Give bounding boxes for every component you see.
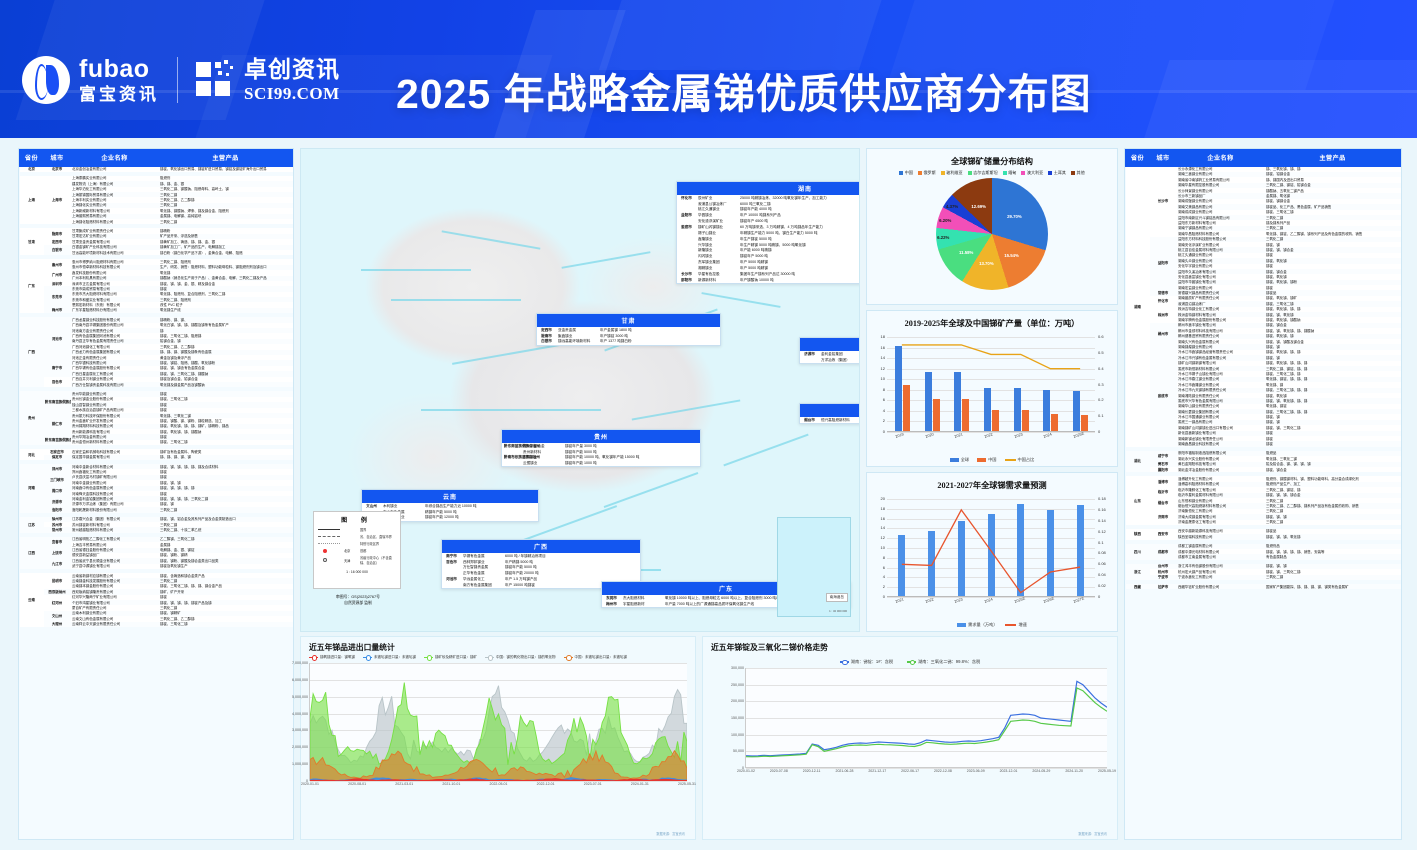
pie-legend-item: 土耳其	[1048, 170, 1066, 176]
page-title: 2025 年战略金属锑优质供应商分布图	[396, 60, 1092, 120]
legend-item: 中国：锑的氧化物出口量：锑的氧化物	[485, 655, 556, 660]
cell-city: 郴州市	[1150, 323, 1177, 345]
callout-city: 黔东南苗族侗族自治州	[502, 443, 521, 449]
fubao-brand-en: fubao	[79, 57, 159, 82]
legend-item: 中国	[977, 457, 996, 463]
cell-products: 国家矿产集团勘探、锑、锑、锑、锑、锑类有色金属矿	[1265, 584, 1401, 589]
legend-item: 湖南：三氧化二锑：99.8%：含税	[907, 659, 980, 665]
chart-production-plot: 02468101214161800.10.20.30.40.50.6201920…	[867, 331, 1117, 464]
pie-legend-item: 俄罗斯	[918, 170, 936, 176]
x-tick-label: 2020	[925, 432, 934, 438]
legend-label: 澳大利亚	[1027, 170, 1043, 176]
callout-company: 新源新材料	[696, 277, 738, 283]
cell-city: 大理州	[44, 622, 71, 627]
cell-province: 广东	[20, 259, 44, 313]
china-distribution-map: 湖南怀化市辰州矿业25000 吨精锑冶炼、32000 吨氧化锑年生产、加工能力溆…	[300, 148, 860, 632]
cell-city: 周口市	[44, 486, 71, 497]
legend-label: 俄罗斯	[923, 170, 935, 176]
y2-tick-label: 0.06	[1098, 561, 1106, 566]
legend-swatch-icon	[1003, 171, 1007, 175]
callout-title: 湖南	[677, 182, 860, 195]
callout-company: 万洋冶炼（集团）	[819, 357, 860, 363]
cell-city: 广州市	[44, 270, 71, 281]
callout-title: 山东	[800, 404, 860, 417]
cell-province: 贵州	[20, 391, 44, 445]
y-tick-label: 6	[869, 565, 885, 570]
legend-label: 未锻轧锑进口量：未锻轧锑	[374, 655, 416, 660]
legend-symbol-reddot	[318, 549, 344, 553]
y-tick-label: 100,000	[731, 733, 746, 737]
pie-legend-item: 中国	[899, 170, 913, 176]
legend-label: 中国占比	[1018, 457, 1035, 463]
callout-company: 南方有色金属集团	[461, 582, 503, 588]
y-tick-label: 12	[869, 535, 885, 540]
y-tick-label: 0	[869, 594, 885, 599]
callout-city: 白银市	[537, 339, 556, 345]
col-city: 城市	[1150, 150, 1177, 167]
cell-province: 江西	[20, 537, 44, 569]
legend-swatch-icon	[918, 171, 922, 175]
cell-province: 湖北	[1126, 451, 1150, 473]
chart-import-export: 近五年锑品进出口量统计 锑氧锑进口量：锑氧锑未锻轧锑进口量：未锻轧锑锑矿砂及精矿…	[300, 636, 696, 840]
map-river	[391, 299, 521, 301]
pie-slice-label: 13.70%	[979, 261, 994, 266]
cell-city: 济源市	[44, 496, 71, 507]
cell-city: 铜仁市	[44, 413, 71, 435]
cell-province: 西藏	[1126, 584, 1150, 589]
callout-company: 宇星阻燃新材	[621, 601, 663, 607]
sci99-brand-cn: 卓创资讯	[244, 58, 340, 81]
legend-label: 需求量（万吨）	[968, 622, 997, 628]
cell-company: 云南祥云中天锑业有限责任公司	[71, 622, 159, 627]
supplier-table-left-grid: 省份 城市 企业名称 主营产品 北京北京市北京金创冶金有限公司锑锭、氧化锑出口贸…	[19, 149, 293, 627]
y-tick-label: 0	[869, 429, 885, 434]
legend-desc: 省、自治区、直辖市界	[360, 534, 392, 539]
callout-row: 烟台市恒兴高阻燃新材料20 吨高阻燃年产能	[800, 417, 860, 423]
y2-tick-label: 0.2	[1098, 397, 1104, 402]
cell-province: 甘肃	[20, 228, 44, 255]
legend-swatch-icon	[1071, 171, 1075, 175]
supplier-table-right: 省份 城市 企业名称 主营产品 湖南长沙市长沙永源化工有限公司锑、三氧化锑、锑、…	[1124, 148, 1402, 840]
pie-legend-item: 吉尔吉斯斯坦	[968, 170, 998, 176]
y-tick-label: 10	[869, 545, 885, 550]
plot-area	[887, 499, 1095, 597]
x-tick-label: 2022-06-17	[901, 769, 919, 773]
y-tick-label: 18	[869, 506, 885, 511]
legend-row: 天津省级行政中心（不含直辖、自治区）	[314, 554, 400, 566]
map-legend: 图 例 国界省、自治区、直辖市界特别行政区界北京首都天津省级行政中心（不含直辖、…	[313, 511, 401, 589]
legend-symbol-dot	[318, 543, 344, 544]
legend-symbol-dash	[318, 536, 344, 537]
callout-city	[442, 582, 461, 588]
legend-item: 全球	[950, 457, 969, 463]
cell-city: 怀化市	[1150, 296, 1177, 307]
chart-plot-area: 050,000100,000150,000200,000250,000300,0…	[745, 668, 1107, 768]
legend-key: 天津	[344, 558, 360, 563]
inset-scale: 1 : 32 000 000	[829, 609, 847, 613]
cell-province: 江苏	[20, 517, 44, 533]
y-tick-label: 3,000,000	[292, 728, 310, 732]
cell-city: 三门峡市	[44, 475, 71, 486]
cell-city: 宜春市	[44, 537, 71, 548]
cell-city: 陇南市	[44, 228, 71, 239]
y-tick-label: 50,000	[733, 749, 746, 753]
chart-legend: 需求量（万吨）增速	[867, 622, 1117, 628]
legend-label: 中国	[988, 457, 996, 463]
cell-province: 湖南	[1126, 166, 1150, 447]
legend-label: 增速	[1018, 622, 1026, 628]
cell-city: 上饶市	[44, 548, 71, 559]
legend-label: 中国：未锻轧锑出口量：未锻轧锑	[575, 655, 628, 660]
legend-label: 中国：锑的氧化物出口量：锑的氧化物	[496, 655, 556, 660]
y-tick-label: 150,000	[731, 716, 746, 720]
supplier-table-right-grid: 省份 城市 企业名称 主营产品 湖南长沙市长沙永源化工有限公司锑、三氧化锑、锑、…	[1125, 149, 1401, 589]
cell-city: 济南市	[1150, 509, 1177, 525]
map-scale: 1 : 16 000 000	[314, 570, 400, 574]
cell-city: 郑州市	[44, 464, 71, 475]
callout-city: 梅州市	[602, 601, 621, 607]
cell-city: 黔东南苗族侗族自治州	[44, 391, 71, 413]
legend-marker-icon	[840, 661, 849, 662]
cell-city: 红河州	[44, 595, 71, 611]
x-tick-label: 2020-07-08	[770, 769, 788, 773]
chart-title: 近五年锑品进出口量统计	[301, 637, 695, 655]
y-tick-label: 16	[869, 516, 885, 521]
map-callout-湖南[interactable]: 湖南怀化市辰州矿业25000 吨精锑冶炼、32000 吨氧化锑年生产、加工能力溆…	[676, 181, 860, 284]
y-tick-label: 16	[869, 345, 885, 350]
y2-tick-label: 0.1	[1098, 413, 1104, 418]
cell-province: 广西	[20, 317, 44, 387]
y2-tick-label: 0.6	[1098, 334, 1104, 339]
callout-capacity: 锑锭年产能 12000 吨	[423, 515, 538, 521]
map-river	[361, 269, 471, 271]
x-tick-label: 2023	[1014, 432, 1023, 438]
y-tick-label: 4,000,000	[292, 712, 310, 716]
legend-marker-icon	[309, 657, 318, 658]
south-china-sea-inset: 南海诸岛 1 : 32 000 000	[777, 517, 851, 617]
supplier-table-left-body: 北京北京市北京金创冶金有限公司锑锭、氧化锑出口贸易、锑锭矿进口贸易、锑锭及锑锭矿…	[20, 166, 293, 627]
cell-city: 东莞市	[44, 286, 71, 308]
col-company: 企业名称	[71, 150, 159, 167]
cell-city: 百色市	[44, 377, 71, 388]
cell-city: 长沙市	[1150, 166, 1177, 237]
source-note: 数据来源：富宝资讯	[656, 831, 685, 836]
chart-title: 2019-2025年全球及中国锑矿产量（单位：万吨）	[867, 311, 1117, 331]
y2-tick-label: 0.12	[1098, 529, 1106, 534]
legend-label: 湖南：三氧化二锑：99.8%：含税	[918, 659, 980, 665]
legend-item: 锑氧锑进口量：锑氧锑	[309, 655, 355, 660]
legend-marker-icon	[564, 657, 573, 658]
cell-province: 云南	[20, 573, 44, 627]
y-tick-label: 4	[869, 408, 885, 413]
sci99-wordmark: 卓创资讯 SCI99.COM	[244, 58, 340, 102]
x-tick-label: 2021	[954, 432, 963, 438]
chart-demand-plot: 0246810121416182000.020.040.060.080.10.1…	[867, 493, 1117, 629]
y-tick-label: 12	[869, 366, 885, 371]
x-tick-label: 2019	[895, 432, 904, 438]
y2-tick-label: 0	[1098, 594, 1100, 599]
callout-title: 河南	[800, 338, 860, 351]
cell-city: 惠州市	[44, 259, 71, 270]
y2-tick-label: 0.5	[1098, 350, 1104, 355]
legend-item: 中国：未锻轧锑出口量：未锻轧锑	[564, 655, 628, 660]
y2-tick-label: 0.18	[1098, 496, 1106, 501]
pie-slice-label: 15.54%	[1004, 253, 1019, 258]
legend-symbol-line	[318, 529, 344, 530]
legend-item: 中国占比	[1005, 457, 1035, 463]
legend-swatch-icon	[957, 623, 966, 627]
map-callout-山东[interactable]: 山东烟台市恒兴高阻燃新材料20 吨高阻燃年产能	[799, 403, 860, 424]
legend-row: 省、自治区、直辖市界	[314, 533, 400, 540]
supplier-table-left: 省份 城市 企业名称 主营产品 北京北京市北京金创冶金有限公司锑锭、氧化锑出口贸…	[18, 148, 294, 840]
cell-city: 淄博市	[1150, 476, 1177, 487]
gridline	[746, 768, 1107, 769]
x-tick-label: 2020-01-02	[737, 769, 755, 773]
map-legend-title: 图 例	[314, 512, 400, 526]
callout-title: 云南	[362, 490, 538, 503]
y2-tick-label: 0.3	[1098, 382, 1104, 387]
x-tick-label: 2020-01-01	[301, 782, 319, 786]
x-tick-label: 2021-06-28	[836, 769, 854, 773]
callout-city: 黔南布依族苗族自治州	[502, 455, 521, 461]
callout-capacity: 年产 1377 吨锑白粉	[598, 339, 720, 345]
logo-divider	[177, 57, 178, 103]
cell-city: 河池市	[44, 317, 71, 360]
y2-tick-label: 0.04	[1098, 572, 1106, 577]
pie-legend-item: 澳大利亚	[1021, 170, 1043, 176]
y-tick-label: 2	[869, 418, 885, 423]
y-tick-label: 2,000,000	[292, 745, 310, 749]
y-tick-label: 250,000	[731, 683, 746, 687]
map-callout-甘肃[interactable]: 甘肃定西市亚金贵金属年产金属锑 1800 吨陇南市聚鑫锑业年产锑锭 3000 吨…	[536, 313, 721, 346]
pie-slice-label: 6.22%	[937, 235, 949, 240]
y-tick-label: 6	[869, 397, 885, 402]
map-callout-贵州[interactable]: 贵州黔东南苗族侗族自治州贵州华星冶金锑锭年产量 3000 吨贵州新材料锑锭年产能…	[501, 429, 701, 467]
legend-item: 锑矿砂及精矿进口量：锑矿	[424, 655, 477, 660]
col-city: 城市	[44, 150, 71, 167]
callout-row: 万洋冶炼（集团）锑年产能 5000 吨	[800, 357, 860, 363]
callout-title: 贵州	[502, 430, 700, 443]
x-tick-label: 2021-03-01	[395, 782, 413, 786]
y-tick-label: 10	[869, 376, 885, 381]
chart-production: 2019-2025年全球及中国锑矿产量（单位：万吨） 0246810121416…	[866, 310, 1118, 467]
cell-province: 陕西	[1126, 529, 1150, 540]
pie-legend-item: 玻利维亚	[941, 170, 963, 176]
x-tick-label: 2024	[1043, 432, 1052, 438]
callout-city: 邵阳市	[677, 277, 696, 283]
header-decoration	[1131, 60, 1417, 138]
chart-legend: 全球中国中国占比	[867, 457, 1117, 463]
plot-area	[887, 337, 1095, 432]
y2-tick-label: 0	[1098, 429, 1100, 434]
legend-swatch-icon	[899, 171, 903, 175]
legend-swatch-icon	[1048, 171, 1052, 175]
pie-legend-item: 其他	[1071, 170, 1085, 176]
legend-label: 吉尔吉斯斯坦	[973, 170, 998, 176]
pie-graphic: 29.70%15.54%13.70%11.58%6.22%6.20%4.37%1…	[936, 178, 1048, 290]
logo-area: fubao 富宝资讯 卓创资讯 SCI99.COM	[22, 50, 340, 110]
cell-city: 益阳市	[1150, 237, 1177, 291]
callout-row: 白银市锑远高能环境新材料年产 1377 吨锑白粉	[537, 339, 720, 345]
callout-row: 邵阳市新源新材料年产锑酸钠 10000 吨	[677, 277, 860, 283]
legend-marker-icon	[363, 657, 372, 658]
pie-legend-item: 缅甸	[1003, 170, 1017, 176]
callout-row: 云鹭锑业锑锭年产能 1000 吨	[502, 461, 700, 467]
poster-header: fubao 富宝资讯 卓创资讯 SCI99.COM 2025 年战略金属锑优质供…	[0, 0, 1417, 138]
legend-swatch-icon	[968, 171, 972, 175]
col-company: 企业名称	[1177, 150, 1265, 167]
y-tick-label: 8	[869, 387, 885, 392]
cell-city: 黔东南苗族侗族自治州	[44, 434, 71, 445]
pie-slice-label: 4.37%	[946, 204, 958, 209]
y-tick-label: 14	[869, 525, 885, 530]
cell-city: 临沂市	[1150, 487, 1177, 498]
x-tick-label: 2025-05-19	[1098, 769, 1116, 773]
legend-label: 全球	[961, 457, 969, 463]
callout-company: 云鹭锑业	[521, 461, 563, 467]
fubao-brand-cn: 富宝资讯	[79, 86, 159, 103]
sci99-logo-icon	[196, 60, 236, 100]
line-中国占比	[887, 337, 1095, 432]
cell-city: 南宁市	[44, 360, 71, 376]
x-tick-label: 2022-12-08	[934, 769, 952, 773]
col-province: 省份	[20, 150, 44, 167]
y-tick-label: 8	[869, 555, 885, 560]
y-tick-label: 7,000,000	[292, 661, 310, 665]
source-note: 数据来源：富宝资讯	[1078, 831, 1107, 836]
legend-row: 北京首都	[314, 547, 400, 554]
legend-marker-icon	[485, 657, 494, 658]
pie-slice-label: 12.69%	[971, 204, 986, 209]
callout-title: 广西	[442, 540, 640, 553]
cell-city: 上海市	[44, 176, 71, 225]
chart-title: 全球锑矿储量分布结构	[867, 149, 1117, 169]
chart-title: 近五年锑锭及三氧化二锑价格走势	[703, 637, 1117, 655]
y-tick-label: 14	[869, 355, 885, 360]
legend-label: 锑氧锑进口量：锑氧锑	[320, 655, 355, 660]
legend-label: 锑矿砂及精矿进口量：锑矿	[435, 655, 477, 660]
col-province: 省份	[1126, 150, 1150, 167]
x-tick-label: 2023-06-09	[967, 769, 985, 773]
legend-swatch-icon	[1005, 459, 1016, 461]
cell-province: 上海	[20, 176, 44, 225]
legend-label: 缅甸	[1008, 170, 1016, 176]
x-tick-label: 2023	[954, 597, 963, 603]
legend-row: 国界	[314, 526, 400, 533]
chart-price-trend: 近五年锑锭及三氧化二锑价格走势 湖南：锑锭：1#：含税湖南：三氧化二锑：99.8…	[702, 636, 1118, 840]
legend-label: 土耳其	[1054, 170, 1066, 176]
x-tick-label: 2021-12-17	[868, 769, 886, 773]
cell-company: 西藏华钰矿业股份有限公司	[1177, 584, 1265, 589]
supplier-table-right-body: 湖南长沙市长沙永源化工有限公司锑、三氧化锑、锑、锑湖南三鑫锑业有限公司锑锭、铅锑…	[1126, 166, 1401, 589]
y2-tick-label: 0.14	[1098, 518, 1106, 523]
map-callout-河南[interactable]: 河南济源市金利金铅集团三氧化二锑 40000 吨万洋冶炼（集团）锑年产能 500…	[799, 337, 860, 364]
legend-swatch-icon	[1021, 171, 1025, 175]
x-tick-label: 2020-12-11	[803, 769, 821, 773]
y2-tick-label: 0.4	[1098, 366, 1104, 371]
cell-province: 四川	[1126, 544, 1150, 560]
legend-item: 增速	[1005, 622, 1026, 628]
y2-tick-label: 0.16	[1098, 507, 1106, 512]
y-tick-label: 200,000	[731, 699, 746, 703]
cell-products: 锑锭、三氧化二锑	[159, 622, 293, 627]
x-tick-label: 2022-12-01	[537, 782, 555, 786]
fubao-wordmark: fubao 富宝资讯	[79, 57, 159, 103]
cell-city: 成都市	[1150, 544, 1177, 560]
price-series-group	[746, 668, 1107, 768]
map-approval-number: 审图号：GS(2023)2767号 自然资源部 监制	[315, 595, 401, 606]
x-tick-label: 2024-11-20	[1065, 769, 1083, 773]
cell-province: 山东	[1126, 476, 1150, 525]
legend-label: 玻利维亚	[946, 170, 962, 176]
cell-province: 河南	[20, 464, 44, 513]
callout-company: 锑远高能环境新材料	[556, 339, 598, 345]
legend-swatch-icon	[977, 458, 986, 462]
x-tick-label: 2024	[984, 597, 993, 603]
y-tick-label: 4	[869, 574, 885, 579]
callout-company: 恒兴高阻燃新材料	[819, 417, 860, 423]
callout-capacity: 年产锑酸钠 10000 吨	[738, 277, 860, 283]
legend-label: 中国	[905, 170, 913, 176]
x-tick-label: 2023-12-01	[1000, 769, 1018, 773]
approval-line-2: 自然资源部 监制	[315, 601, 401, 607]
cell-city: 昆明市	[44, 573, 71, 589]
fubao-logo-icon	[22, 56, 70, 104]
x-tick-label: 2022	[925, 597, 934, 603]
cell-city: 娄底市	[1150, 344, 1177, 446]
callout-capacity: 锑锭年产能 1000 吨	[563, 461, 700, 467]
legend-symbol-circle	[318, 558, 344, 562]
pie-slice-label: 11.58%	[959, 250, 973, 255]
chart-demand-forecast: 2021-2027年全球锑需求量预测 0246810121416182000.0…	[866, 472, 1118, 632]
legend-desc: 省级行政中心（不含直辖、自治区）	[360, 555, 396, 565]
callout-city	[502, 461, 521, 467]
legend-swatch-icon	[941, 171, 945, 175]
inset-label: 南海诸岛	[826, 593, 848, 602]
callout-title: 甘肃	[537, 314, 720, 327]
table-header-row: 省份 城市 企业名称 主营产品	[20, 150, 293, 167]
legend-desc: 首都	[360, 548, 366, 553]
legend-row: 特别行政区界	[314, 540, 400, 547]
cell-city: 株洲市	[1150, 307, 1177, 323]
legend-label: 其他	[1077, 170, 1085, 176]
x-tick-label: 2021-10-01	[442, 782, 460, 786]
legend-item: 湖南：锑锭：1#：含税	[840, 659, 893, 665]
cell-city: 白银市	[44, 245, 71, 256]
chart-title: 2021-2027年全球锑需求量预测	[867, 473, 1117, 493]
y2-tick-label: 0.08	[1098, 550, 1106, 555]
x-tick-label: 2025-05-31	[678, 782, 696, 786]
sci99-brand-en: SCI99.COM	[244, 85, 340, 102]
legend-item: 未锻轧锑进口量：未锻轧锑	[363, 655, 416, 660]
legend-swatch-icon	[1005, 624, 1016, 626]
x-tick-label: 2024-01-31	[631, 782, 649, 786]
legend-item: 需求量（万吨）	[957, 622, 997, 628]
line-增速	[887, 499, 1095, 597]
x-tick-label: 2020-08-01	[348, 782, 366, 786]
chart-reserves-pie: 全球锑矿储量分布结构 中国俄罗斯玻利维亚吉尔吉斯斯坦缅甸澳大利亚土耳其其他 29…	[866, 148, 1118, 305]
col-products: 主营产品	[1265, 150, 1401, 167]
chart-legend: 湖南：锑锭：1#：含税湖南：三氧化二锑：99.8%：含税	[703, 655, 1117, 668]
cell-province: 河北	[20, 449, 44, 460]
cell-city: 咸宁市	[1150, 451, 1177, 462]
cell-city: 拉萨市	[1150, 584, 1177, 589]
y2-tick-label: 0.1	[1098, 540, 1104, 545]
callout-city	[800, 357, 819, 363]
legend-swatch-icon	[950, 458, 959, 462]
callout-city: 烟台市	[800, 417, 819, 423]
y2-tick-label: 0.02	[1098, 583, 1106, 588]
